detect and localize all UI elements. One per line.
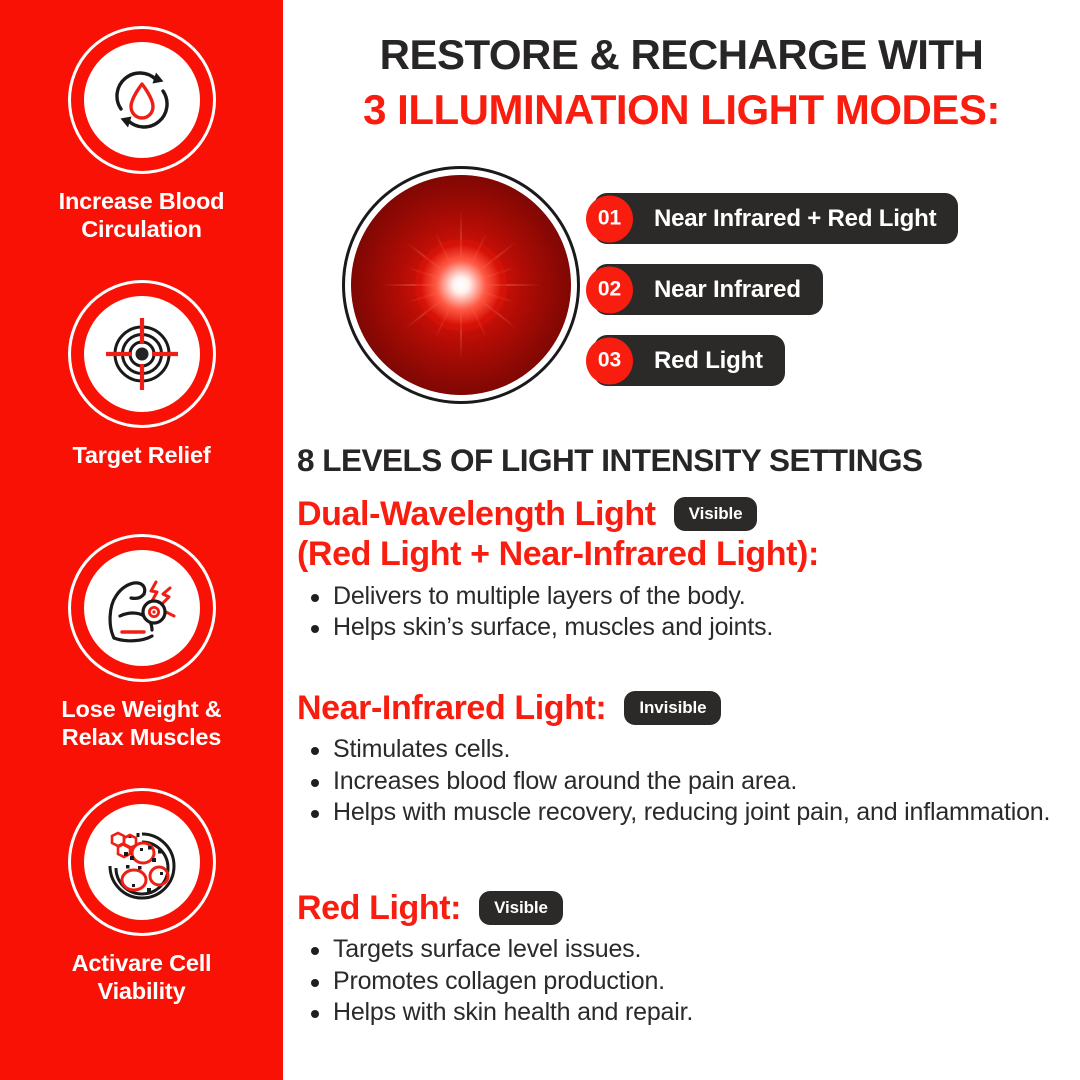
light-mode-number: 03 [586, 337, 633, 384]
section-dual-wavelength: Dual-Wavelength Light Visible (Red Light… [297, 494, 1077, 644]
benefit-item-increase-blood-circulation: Increase Blood Circulation [0, 26, 283, 280]
bullet-item: Helps skin’s surface, muscles and joints… [297, 612, 1077, 644]
bullet-item: Helps with skin health and repair. [297, 997, 1077, 1029]
benefits-sidebar: Increase Blood Circulation [0, 0, 283, 1080]
light-mode-row[interactable]: 01 Near Infrared + Red Light [594, 190, 1064, 247]
bullet-item: Promotes collagen production. [297, 966, 1077, 998]
visibility-tag: Visible [479, 891, 563, 925]
light-mode-label: Red Light [654, 347, 763, 375]
benefit-label: Target Relief [73, 442, 211, 470]
blood-drop-circulation-icon [104, 62, 180, 138]
benefit-item-target-relief: Target Relief [0, 280, 283, 534]
benefit-icon-badge [68, 534, 216, 682]
page-title: RESTORE & RECHARGE WITH 3 ILLUMINATION L… [283, 34, 1080, 131]
section-title: Near-Infrared Light: [297, 688, 606, 728]
intensity-heading: 8 LEVELS OF LIGHT INTENSITY SETTINGS [297, 442, 923, 479]
light-mode-number: 02 [586, 266, 633, 313]
target-crosshair-icon [102, 314, 182, 394]
light-mode-label: Near Infrared [654, 276, 801, 304]
section-bullets: Targets surface level issues. Promotes c… [297, 934, 1077, 1029]
section-bullets: Delivers to multiple layers of the body.… [297, 581, 1077, 644]
section-bullets: Stimulates cells. Increases blood flow a… [297, 734, 1077, 829]
section-heading: Near-Infrared Light: Invisible [297, 688, 1077, 728]
benefit-icon-inner [79, 291, 205, 417]
benefit-icon-inner [79, 545, 205, 671]
petri-dish-cells-icon [100, 822, 184, 902]
benefit-icon-inner [79, 799, 205, 925]
benefit-icon-badge [68, 26, 216, 174]
visibility-tag: Visible [674, 497, 758, 531]
bullet-item: Delivers to multiple layers of the body. [297, 581, 1077, 613]
section-near-infrared: Near-Infrared Light: Invisible Stimulate… [297, 688, 1077, 829]
main-content: RESTORE & RECHARGE WITH 3 ILLUMINATION L… [283, 0, 1080, 1080]
bullet-item: Helps with muscle recovery, reducing joi… [297, 797, 1077, 829]
benefit-icon-badge [68, 788, 216, 936]
section-title: Dual-Wavelength Light [297, 494, 656, 534]
benefit-label: Lose Weight & Relax Muscles [61, 696, 221, 751]
lamp-face [351, 175, 571, 395]
benefit-label: Activare Cell Viability [72, 950, 212, 1005]
visibility-tag: Invisible [624, 691, 721, 725]
section-title-line2: (Red Light + Near-Infrared Light): [297, 534, 1077, 574]
bullet-item: Increases blood flow around the pain are… [297, 766, 1077, 798]
benefit-icon-badge [68, 280, 216, 428]
bullet-item: Stimulates cells. [297, 734, 1077, 766]
flexed-bicep-muscle-icon [100, 568, 184, 648]
light-mode-pill[interactable]: Near Infrared + Red Light [594, 193, 958, 244]
light-modes-list: 01 Near Infrared + Red Light 02 Near Inf… [594, 190, 1064, 403]
page-title-line1: RESTORE & RECHARGE WITH [283, 34, 1080, 76]
section-red-light: Red Light: Visible Targets surface level… [297, 888, 1077, 1029]
page-title-line2: 3 ILLUMINATION LIGHT MODES: [283, 89, 1080, 131]
section-heading: Red Light: Visible [297, 888, 1077, 928]
bullet-item: Targets surface level issues. [297, 934, 1077, 966]
red-light-lamp-icon [342, 166, 580, 404]
light-mode-label: Near Infrared + Red Light [654, 205, 936, 233]
benefit-label: Increase Blood Circulation [59, 188, 225, 243]
light-mode-row[interactable]: 02 Near Infrared [594, 261, 1064, 318]
section-heading: Dual-Wavelength Light Visible [297, 494, 1077, 534]
light-mode-row[interactable]: 03 Red Light [594, 332, 1064, 389]
benefit-icon-inner [79, 37, 205, 163]
benefit-item-activare-cell-viability: Activare Cell Viability [0, 788, 283, 1042]
lamp-flare-core [415, 239, 507, 331]
benefit-item-lose-weight-relax-muscles: Lose Weight & Relax Muscles [0, 534, 283, 788]
section-title: Red Light: [297, 888, 461, 928]
infographic-page: Increase Blood Circulation [0, 0, 1080, 1080]
light-mode-number: 01 [586, 195, 633, 242]
lamp-flare [381, 205, 541, 365]
